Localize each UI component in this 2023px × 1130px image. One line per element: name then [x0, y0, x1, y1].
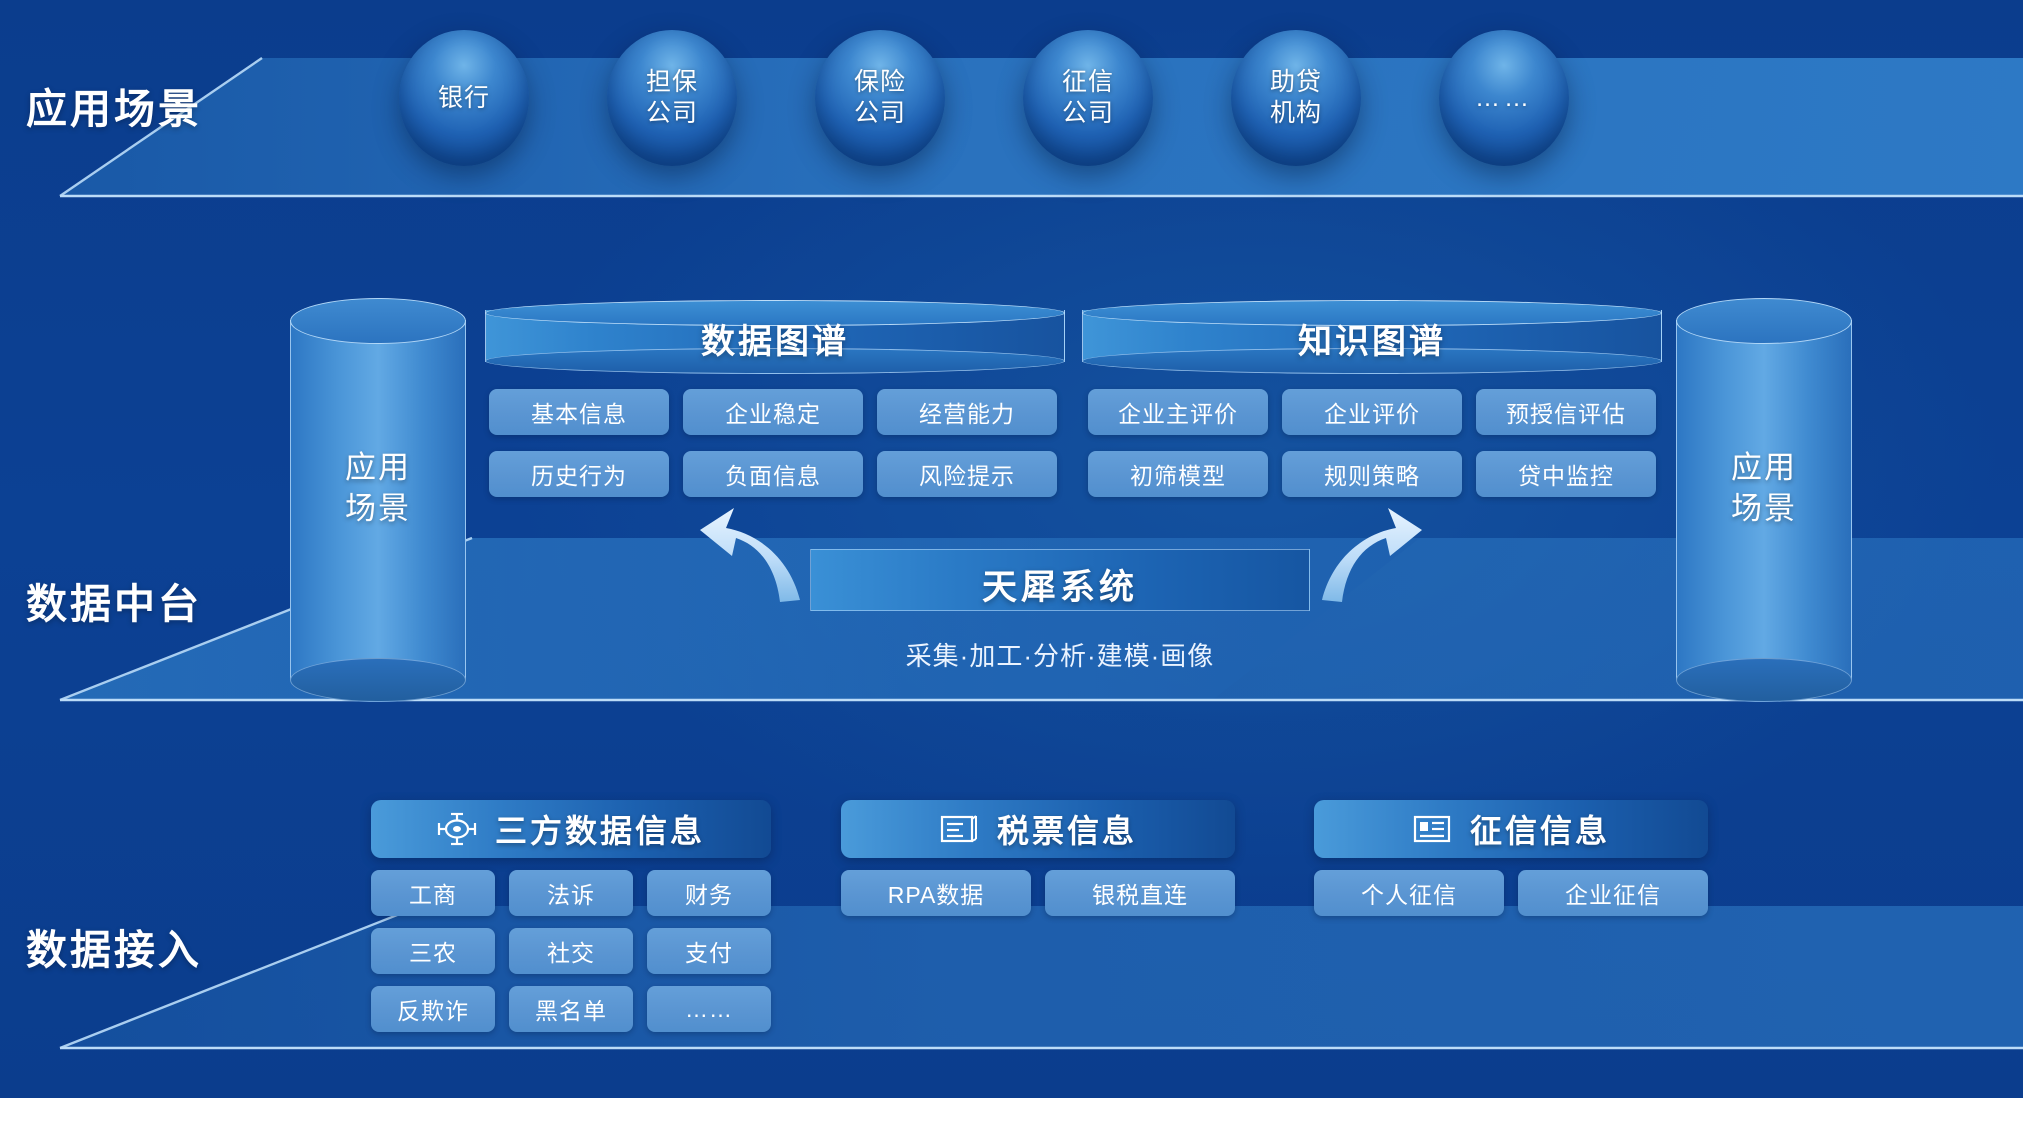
ingest-group-title: 三方数据信息	[495, 806, 705, 852]
ingest-group-rows: 工商 法诉 财务 三农 社交 支付 反欺诈 黑名单 ……	[371, 870, 771, 1032]
ingest-row: 三农 社交 支付	[371, 928, 771, 974]
id-card-icon	[1412, 812, 1452, 846]
chip-data-historical-behavior[interactable]: 历史行为	[489, 451, 669, 497]
chip-third-party-litigation[interactable]: 法诉	[509, 870, 633, 916]
curved-arrow-up-left-icon	[700, 508, 800, 602]
ingest-row: 工商 法诉 财务	[371, 870, 771, 916]
chip-data-negative-info[interactable]: 负面信息	[683, 451, 863, 497]
ingest-group-header[interactable]: 三方数据信息	[371, 800, 771, 858]
chip-third-party-anti-fraud[interactable]: 反欺诈	[371, 986, 495, 1032]
chip-third-party-blacklist[interactable]: 黑名单	[509, 986, 633, 1032]
drum-header-data-graph: 数据图谱	[485, 300, 1065, 374]
tier-label-middle: 数据中台	[26, 570, 202, 630]
chip-credit-enterprise[interactable]: 企业征信	[1518, 870, 1708, 916]
ingest-row: 个人征信 企业征信	[1314, 870, 1708, 916]
chip-knowledge-loan-monitoring[interactable]: 贷中监控	[1476, 451, 1656, 497]
ingest-group-rows: RPA数据 银税直连	[841, 870, 1235, 916]
ingest-row: RPA数据 银税直连	[841, 870, 1235, 916]
tier-label-ingest: 数据接入	[26, 916, 202, 976]
cylinder-top	[290, 298, 466, 344]
ingest-group-credit-reference: 征信信息 个人征信 企业征信	[1314, 800, 1708, 928]
chip-data-basic-info[interactable]: 基本信息	[489, 389, 669, 435]
invoice-icon	[939, 812, 979, 846]
cylinder-top	[1676, 298, 1852, 344]
drum-header-knowledge-graph: 知识图谱	[1082, 300, 1662, 374]
scenario-label: 助贷机构	[1270, 67, 1322, 129]
cylinder-bottom	[1676, 658, 1852, 702]
scenario-sphere-bank[interactable]: 银行	[399, 30, 529, 166]
scenario-sphere-credit-agency[interactable]: 征信公司	[1023, 30, 1153, 166]
scenario-label: 征信公司	[1062, 67, 1114, 129]
target-crosshair-icon	[437, 812, 477, 846]
ingest-group-title: 税票信息	[997, 806, 1137, 852]
chip-tax-bank-tax-direct[interactable]: 银税直连	[1045, 870, 1235, 916]
drum-title: 知识图谱	[1082, 314, 1662, 363]
chip-knowledge-pre-credit-assessment[interactable]: 预授信评估	[1476, 389, 1656, 435]
cylinder-application-scenario-right: 应用场景	[1676, 298, 1852, 702]
chip-third-party-social[interactable]: 社交	[509, 928, 633, 974]
drum-title: 数据图谱	[485, 314, 1065, 363]
system-banner-title: 天犀系统	[810, 559, 1310, 610]
system-banner-tianxi[interactable]: 天犀系统	[810, 549, 1310, 611]
system-banner-subtitle: 采集·加工·分析·建模·画像	[810, 636, 1310, 673]
chip-tax-rpa-data[interactable]: RPA数据	[841, 870, 1031, 916]
chip-data-risk-alert[interactable]: 风险提示	[877, 451, 1057, 497]
scenario-label: 担保公司	[646, 67, 698, 129]
chip-third-party-payment[interactable]: 支付	[647, 928, 771, 974]
chip-third-party-finance[interactable]: 财务	[647, 870, 771, 916]
chip-knowledge-owner-evaluation[interactable]: 企业主评价	[1088, 389, 1268, 435]
chip-third-party-agriculture[interactable]: 三农	[371, 928, 495, 974]
architecture-diagram: 应用场景 数据中台 数据接入 银行 担保公司 保险公司 征信公司 助贷机构 ………	[0, 0, 2023, 1098]
cylinder-label: 应用场景	[290, 448, 466, 530]
ingest-group-third-party-data: 三方数据信息 工商 法诉 财务 三农 社交 支付 反欺诈 黑名单 ……	[371, 800, 771, 1044]
cylinder-bottom	[290, 658, 466, 702]
chip-knowledge-enterprise-evaluation[interactable]: 企业评价	[1282, 389, 1462, 435]
cylinder-application-scenario-left: 应用场景	[290, 298, 466, 702]
ingest-group-rows: 个人征信 企业征信	[1314, 870, 1708, 916]
chip-knowledge-screening-model[interactable]: 初筛模型	[1088, 451, 1268, 497]
ingest-group-header[interactable]: 税票信息	[841, 800, 1235, 858]
scenario-label: 银行	[438, 83, 490, 114]
bottom-white-strip	[0, 1098, 2023, 1130]
scenario-label: 保险公司	[854, 67, 906, 129]
diagram-canvas: 应用场景 数据中台 数据接入 银行 担保公司 保险公司 征信公司 助贷机构 ………	[0, 0, 2023, 1130]
chip-data-enterprise-stability[interactable]: 企业稳定	[683, 389, 863, 435]
curved-arrow-up-right-icon	[1322, 508, 1422, 602]
ingest-row: 反欺诈 黑名单 ……	[371, 986, 771, 1032]
scenario-sphere-more[interactable]: ……	[1439, 30, 1569, 166]
scenario-sphere-guarantee[interactable]: 担保公司	[607, 30, 737, 166]
tier-label-application: 应用场景	[26, 75, 202, 135]
scenario-sphere-insurance[interactable]: 保险公司	[815, 30, 945, 166]
scenario-sphere-loan-facilitation[interactable]: 助贷机构	[1231, 30, 1361, 166]
ingest-group-tax-invoice: 税票信息 RPA数据 银税直连	[841, 800, 1235, 928]
ingest-group-title: 征信信息	[1470, 806, 1610, 852]
chip-third-party-business[interactable]: 工商	[371, 870, 495, 916]
chip-data-operating-capability[interactable]: 经营能力	[877, 389, 1057, 435]
chip-third-party-more[interactable]: ……	[647, 986, 771, 1032]
ingest-group-header[interactable]: 征信信息	[1314, 800, 1708, 858]
chip-credit-personal[interactable]: 个人征信	[1314, 870, 1504, 916]
chip-knowledge-rule-strategy[interactable]: 规则策略	[1282, 451, 1462, 497]
scenario-label: ……	[1475, 83, 1533, 114]
cylinder-label: 应用场景	[1676, 448, 1852, 530]
